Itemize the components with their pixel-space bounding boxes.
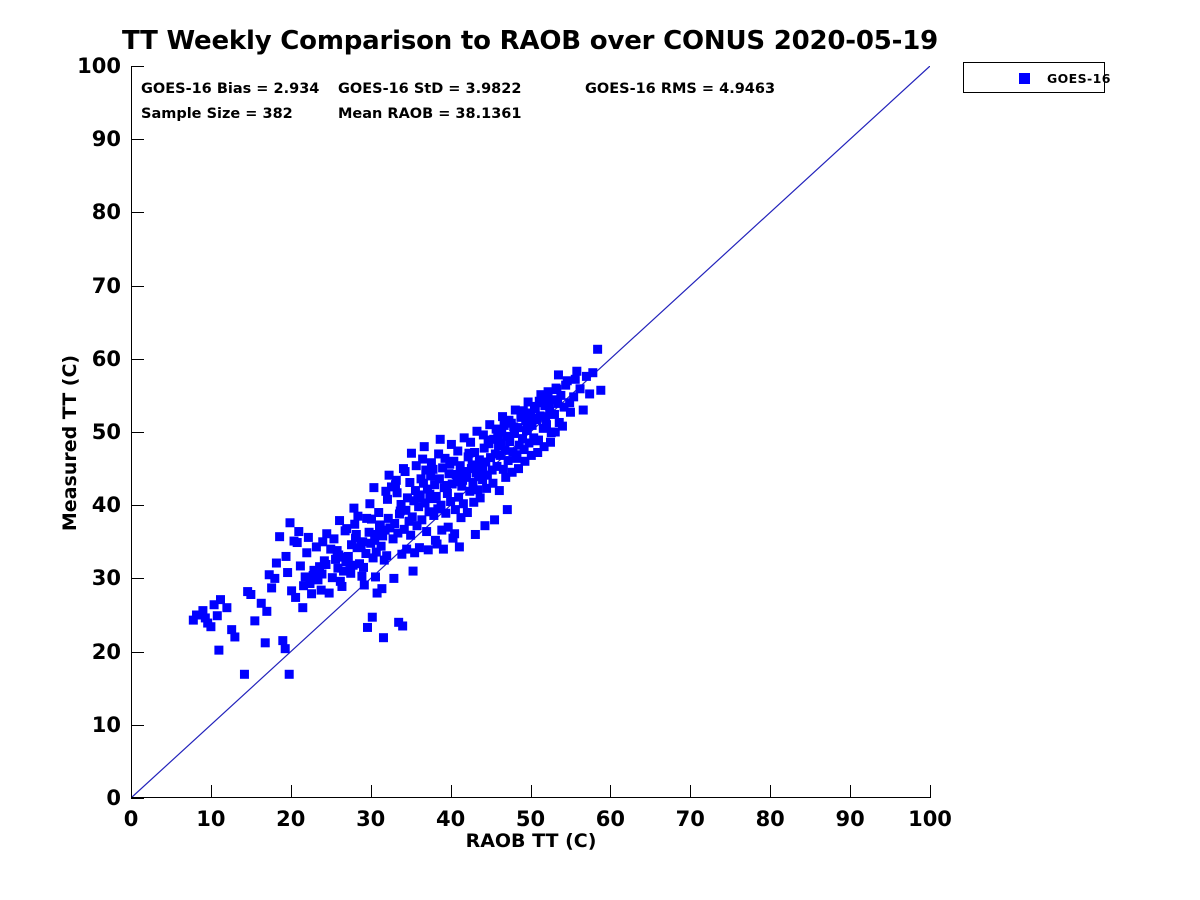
data-point — [417, 474, 426, 483]
data-point — [453, 447, 462, 456]
y-tick-label: 60 — [92, 347, 121, 371]
data-point — [505, 437, 514, 446]
data-point — [464, 449, 473, 458]
data-point — [294, 527, 303, 536]
x-tick — [211, 785, 212, 797]
data-point — [550, 410, 559, 419]
data-point — [496, 439, 505, 448]
plot-area: 0102030405060708090100 01020304050607080… — [131, 66, 930, 798]
data-point — [293, 538, 302, 547]
data-point — [198, 606, 207, 615]
data-point — [409, 567, 418, 576]
data-point — [394, 618, 403, 627]
x-tick-label: 50 — [516, 807, 545, 831]
data-point — [425, 490, 434, 499]
data-point — [329, 534, 338, 543]
data-point — [471, 530, 480, 539]
y-tick-label: 0 — [106, 786, 121, 810]
data-point — [369, 483, 378, 492]
data-point — [554, 370, 563, 379]
data-point — [593, 345, 602, 354]
data-point — [585, 389, 594, 398]
data-point — [588, 368, 597, 377]
data-point — [458, 476, 467, 485]
data-point — [436, 435, 445, 444]
x-tick-label: 0 — [124, 807, 139, 831]
data-point — [368, 613, 377, 622]
data-point — [282, 552, 291, 561]
data-point — [317, 586, 326, 595]
data-point — [206, 622, 215, 631]
data-point — [408, 512, 417, 521]
data-point — [476, 493, 485, 502]
data-point — [341, 526, 350, 535]
data-point — [449, 534, 458, 543]
data-point — [566, 408, 575, 417]
data-point — [365, 528, 374, 537]
data-point — [328, 573, 337, 582]
data-point — [389, 574, 398, 583]
data-point — [407, 449, 416, 458]
data-point — [380, 556, 389, 565]
x-tick-label: 80 — [756, 807, 785, 831]
data-point — [357, 541, 366, 550]
series-goes-16 — [189, 345, 605, 679]
data-point — [246, 590, 255, 599]
data-point — [441, 509, 450, 518]
x-tick-label: 90 — [835, 807, 864, 831]
data-point — [451, 505, 460, 514]
data-point — [439, 545, 448, 554]
y-tick-label: 10 — [92, 713, 121, 737]
data-point — [267, 583, 276, 592]
y-tick — [132, 505, 144, 506]
data-point — [360, 580, 369, 589]
data-point — [383, 495, 392, 504]
y-tick — [132, 212, 144, 213]
x-tick-label: 20 — [276, 807, 305, 831]
data-point — [216, 595, 225, 604]
x-tick-label: 70 — [676, 807, 705, 831]
data-point — [503, 505, 512, 514]
data-point — [396, 507, 405, 516]
x-tick — [451, 785, 452, 797]
data-point — [417, 515, 426, 524]
y-tick-label: 70 — [92, 274, 121, 298]
legend-label-goes16: GOES-16 — [1047, 71, 1111, 86]
x-tick — [930, 785, 931, 797]
y-tick — [132, 432, 144, 433]
y-tick-label: 40 — [92, 493, 121, 517]
data-point — [442, 481, 451, 490]
data-point — [499, 465, 508, 474]
data-point — [473, 485, 482, 494]
data-point — [490, 515, 499, 524]
data-point — [291, 593, 300, 602]
data-point — [337, 582, 346, 591]
data-point — [422, 527, 431, 536]
data-point — [500, 421, 509, 430]
data-point — [424, 545, 433, 554]
data-point — [296, 561, 305, 570]
y-tick-label: 30 — [92, 566, 121, 590]
data-point — [347, 540, 356, 549]
data-point — [377, 542, 386, 551]
data-point — [565, 398, 574, 407]
data-point — [325, 589, 334, 598]
data-point — [362, 514, 371, 523]
data-point — [261, 638, 270, 647]
data-point — [391, 480, 400, 489]
y-tick-label: 100 — [77, 54, 121, 78]
data-point — [418, 455, 427, 464]
x-tick — [850, 785, 851, 797]
y-tick — [132, 652, 144, 653]
data-point — [509, 422, 518, 431]
data-point — [463, 508, 472, 517]
data-point — [446, 497, 455, 506]
data-point — [240, 670, 249, 679]
y-tick-label: 80 — [92, 200, 121, 224]
data-point — [371, 572, 380, 581]
data-point — [561, 381, 570, 390]
legend: GOES-16 — [963, 62, 1105, 93]
data-point — [385, 471, 394, 480]
data-point — [352, 530, 361, 539]
data-point — [393, 488, 402, 497]
data-point — [596, 386, 605, 395]
data-point — [299, 581, 308, 590]
x-axis-label: RAOB TT (C) — [131, 830, 931, 852]
y-axis-label: Measured TT (C) — [59, 343, 81, 543]
data-point — [363, 623, 372, 632]
y-tick — [132, 359, 144, 360]
y-tick-label: 20 — [92, 640, 121, 664]
data-point — [576, 384, 585, 393]
data-point — [546, 438, 555, 447]
data-point — [222, 603, 231, 612]
data-point — [552, 385, 561, 394]
data-point — [357, 572, 366, 581]
data-point — [519, 406, 528, 415]
data-point — [365, 499, 374, 508]
data-point — [345, 565, 354, 574]
data-point — [337, 553, 346, 562]
x-tick — [531, 785, 532, 797]
data-point — [285, 670, 294, 679]
y-tick — [132, 286, 144, 287]
chart-page: TT Weekly Comparison to RAOB over CONUS … — [0, 0, 1200, 900]
data-point — [572, 367, 581, 376]
data-point — [445, 460, 454, 469]
data-point — [315, 562, 324, 571]
x-tick — [131, 785, 132, 797]
data-point — [406, 531, 415, 540]
x-tick-label: 60 — [596, 807, 625, 831]
data-point — [359, 563, 368, 572]
x-tick — [770, 785, 771, 797]
y-tick — [132, 66, 144, 67]
data-point — [512, 450, 521, 459]
data-point — [493, 431, 502, 440]
data-point — [307, 589, 316, 598]
data-point — [373, 589, 382, 598]
data-point — [468, 460, 477, 469]
scatter-plot-canvas — [131, 66, 930, 798]
data-point — [376, 520, 385, 529]
data-point — [230, 632, 239, 641]
data-point — [286, 518, 295, 527]
data-point — [349, 504, 358, 513]
y-tick-label: 90 — [92, 127, 121, 151]
y-tick — [132, 578, 144, 579]
data-point — [335, 516, 344, 525]
x-tick — [291, 785, 292, 797]
data-point — [542, 420, 551, 429]
data-point — [504, 456, 513, 465]
data-point — [275, 532, 284, 541]
data-point — [443, 489, 452, 498]
data-point — [478, 463, 487, 472]
data-point — [495, 486, 504, 495]
y-tick — [132, 725, 144, 726]
data-point — [455, 542, 464, 551]
data-point — [213, 611, 222, 620]
data-point — [312, 542, 321, 551]
data-point — [405, 478, 414, 487]
data-point — [459, 499, 468, 508]
y-tick — [132, 139, 144, 140]
data-point — [522, 426, 531, 435]
legend-swatch-goes16 — [1019, 73, 1030, 84]
data-point — [402, 545, 411, 554]
data-point — [379, 633, 388, 642]
x-tick — [371, 785, 372, 797]
x-tick-label: 40 — [436, 807, 465, 831]
data-point — [480, 521, 489, 530]
data-point — [281, 644, 290, 653]
data-point — [309, 571, 318, 580]
data-point — [399, 464, 408, 473]
data-point — [558, 422, 567, 431]
x-tick-label: 30 — [356, 807, 385, 831]
data-point — [484, 436, 493, 445]
data-point — [265, 570, 274, 579]
data-point — [410, 548, 419, 557]
data-point — [381, 487, 390, 496]
data-point — [429, 465, 438, 474]
data-point — [544, 400, 553, 409]
x-axis-line — [131, 797, 931, 798]
data-point — [302, 548, 311, 557]
data-point — [466, 438, 475, 447]
data-point — [390, 519, 399, 528]
data-point — [257, 599, 266, 608]
x-tick-label: 100 — [908, 807, 952, 831]
data-point — [272, 559, 281, 568]
y-tick-label: 50 — [92, 420, 121, 444]
data-point — [579, 406, 588, 415]
data-point — [541, 412, 550, 421]
data-point — [350, 520, 359, 529]
data-point — [571, 375, 580, 384]
data-point — [437, 501, 446, 510]
data-point — [250, 616, 259, 625]
data-point — [474, 471, 483, 480]
data-point — [420, 442, 429, 451]
data-point — [278, 636, 287, 645]
data-point — [283, 568, 292, 577]
y-tick — [132, 798, 144, 799]
data-point — [532, 436, 541, 445]
x-tick-label: 10 — [196, 807, 225, 831]
x-tick — [610, 785, 611, 797]
data-point — [535, 397, 544, 406]
page-title: TT Weekly Comparison to RAOB over CONUS … — [0, 26, 1060, 56]
data-point — [353, 512, 362, 521]
data-point — [304, 533, 313, 542]
data-point — [374, 508, 383, 517]
data-point — [298, 603, 307, 612]
data-point — [262, 607, 271, 616]
data-point — [465, 487, 474, 496]
data-point — [214, 646, 223, 655]
x-tick — [690, 785, 691, 797]
data-point — [528, 414, 537, 423]
data-point — [413, 493, 422, 502]
